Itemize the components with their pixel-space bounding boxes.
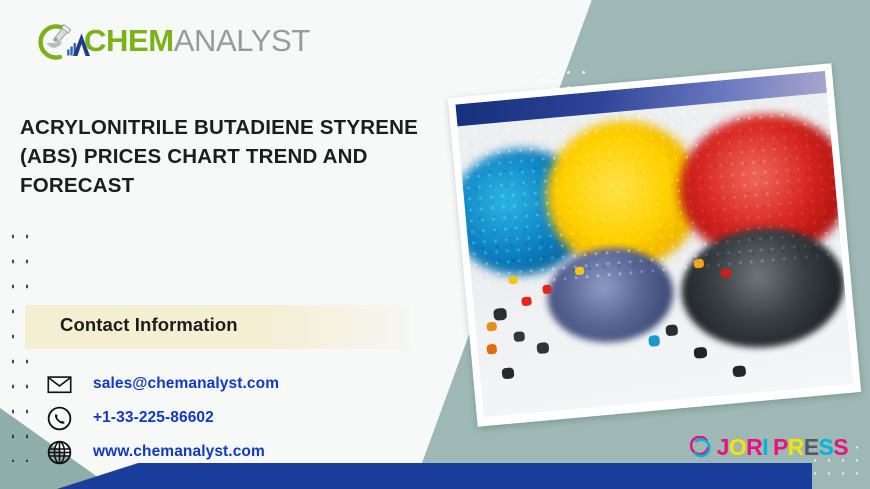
jori-letter-r: R [746,434,762,460]
jori-letter-o: O [729,434,746,460]
loose-pellet [693,258,704,268]
jori-letter-e: E [804,434,819,460]
chemanalyst-logo[interactable]: CHEMANALYST [34,16,310,64]
phone-icon [44,405,74,431]
envelope-icon [44,371,74,397]
jori-letter-s2: S [833,434,848,460]
jori-letter-p: P [773,434,788,460]
hero-image-frame [448,63,861,427]
contact-row-website[interactable]: www.chemanalyst.com [44,436,404,468]
page-title: ACRYLONITRILE BUTADIENE STYRENE (ABS) PR… [20,113,450,200]
jori-swirl-icon [690,436,712,458]
chemanalyst-wordmark: CHEMANALYST [84,25,310,56]
loose-pellet [487,343,498,354]
contact-row-phone[interactable]: +1-33-225-86602 [44,402,404,434]
loose-pellet [575,266,585,275]
plastic-pellets-photo [455,71,853,417]
jori-letter-r2: R [788,434,804,460]
chemanalyst-beaker-chart-icon [34,17,90,63]
loose-pellet [694,346,708,358]
loose-pellet [486,321,497,331]
loose-pellet [733,365,747,377]
loose-pellet [521,296,532,306]
poster-canvas: CHEMANALYST ACRYLONITRILE BUTADIENE STYR… [0,0,870,489]
hero-image [448,63,861,427]
jori-press-logo[interactable]: JORIPRESS [690,433,848,461]
loose-pellet [502,367,515,379]
logo-text-chem: CHEM [84,23,174,58]
contact-email-text: sales@chemanalyst.com [93,375,279,393]
jori-press-wordmark: JORIPRESS [717,436,848,459]
jori-letter-j: J [717,434,729,460]
globe-icon [44,439,74,465]
contact-phone-text: +1-33-225-86602 [93,409,214,427]
contact-row-email[interactable]: sales@chemanalyst.com [44,368,404,400]
loose-pellet [648,335,660,347]
loose-pellet [720,269,731,279]
loose-pellet [665,324,678,336]
jori-letter-i: I [762,434,768,460]
contact-website-text: www.chemanalyst.com [93,443,265,461]
loose-pellet [537,342,550,354]
logo-text-analyst: ANALYST [174,23,310,58]
jori-letter-s: S [819,434,834,460]
loose-pellet [493,308,507,321]
loose-pellet [508,275,518,284]
contact-information-heading: Contact Information [60,314,238,336]
contact-details-list: sales@chemanalyst.com +1-33-225-86602 [44,368,404,470]
